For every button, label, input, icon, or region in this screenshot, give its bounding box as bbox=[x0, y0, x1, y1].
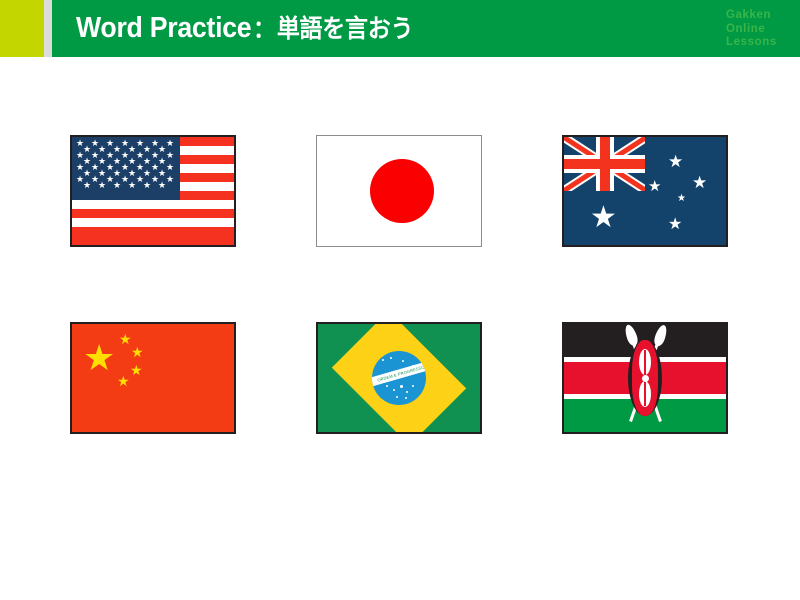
australia-southern-cross-star-4: ★ bbox=[677, 194, 686, 204]
australia-commonwealth-star: ★ bbox=[590, 203, 617, 233]
brand-logo-line-1: Gakken bbox=[726, 9, 790, 23]
china-small-star-3: ★ bbox=[130, 363, 143, 377]
brand-logo-line-2: Online bbox=[726, 23, 790, 37]
australia-southern-cross-star-1: ★ bbox=[668, 153, 683, 170]
flag-card-usa[interactable]: ★ ★ ★ ★ ★ ★ ★ ★ ★ ★ ★ ★ ★ ★ ★ ★ ★ ★ ★ ★ bbox=[70, 135, 236, 247]
page-title: Word Practice：単語を言おう bbox=[76, 9, 413, 45]
page-title-separator: ： bbox=[251, 16, 276, 43]
flag-card-brazil[interactable]: ORDEM E PROGRESSO bbox=[316, 322, 482, 434]
flag-card-kenya[interactable] bbox=[562, 322, 728, 434]
flag-image-usa[interactable]: ★ ★ ★ ★ ★ ★ ★ ★ ★ ★ ★ ★ ★ ★ ★ ★ ★ ★ ★ ★ bbox=[70, 135, 236, 247]
china-small-star-4: ★ bbox=[117, 374, 130, 388]
flag-card-china[interactable]: ★ ★ ★ ★ ★ bbox=[70, 322, 236, 434]
usa-canton: ★ ★ ★ ★ ★ ★ ★ ★ ★ ★ ★ ★ ★ ★ ★ ★ ★ ★ ★ ★ bbox=[72, 137, 180, 200]
flag-image-kenya[interactable] bbox=[562, 322, 728, 434]
china-small-star-2: ★ bbox=[131, 345, 144, 359]
page-title-japanese: 単語を言おう bbox=[277, 15, 413, 43]
australia-southern-cross-star-5: ★ bbox=[668, 217, 682, 233]
brazil-motto-text: ORDEM E PROGRESSO bbox=[372, 360, 426, 388]
japan-red-disc bbox=[370, 159, 434, 223]
header-divider bbox=[44, 0, 52, 57]
brand-logo-line-3: Lessons bbox=[726, 36, 790, 50]
flag-card-australia[interactable]: ★ ★ ★ ★ ★ ★ bbox=[562, 135, 728, 247]
flag-card-japan[interactable] bbox=[316, 135, 482, 247]
flag-grid: ★ ★ ★ ★ ★ ★ ★ ★ ★ ★ ★ ★ ★ ★ ★ ★ ★ ★ ★ ★ bbox=[0, 57, 800, 600]
china-large-star: ★ bbox=[83, 340, 115, 376]
flag-image-china[interactable]: ★ ★ ★ ★ ★ bbox=[70, 322, 236, 434]
header-accent-block bbox=[0, 0, 44, 57]
china-small-star-1: ★ bbox=[119, 332, 132, 346]
flag-image-brazil[interactable]: ORDEM E PROGRESSO bbox=[316, 322, 482, 434]
brazil-blue-globe: ORDEM E PROGRESSO bbox=[372, 351, 426, 405]
kenya-shield-red bbox=[632, 340, 658, 416]
australia-union-jack bbox=[564, 137, 645, 191]
page-header: Word Practice：単語を言おう Gakken Online Lesso… bbox=[0, 0, 800, 57]
brazil-motto-banner: ORDEM E PROGRESSO bbox=[372, 360, 426, 388]
brand-logo: Gakken Online Lessons bbox=[726, 9, 790, 50]
australia-southern-cross-star-3: ★ bbox=[648, 179, 661, 194]
australia-southern-cross-star-2: ★ bbox=[692, 174, 707, 191]
page-title-english: Word Practice bbox=[76, 12, 251, 44]
flag-image-japan[interactable] bbox=[316, 135, 482, 247]
flag-image-australia[interactable]: ★ ★ ★ ★ ★ ★ bbox=[562, 135, 728, 247]
